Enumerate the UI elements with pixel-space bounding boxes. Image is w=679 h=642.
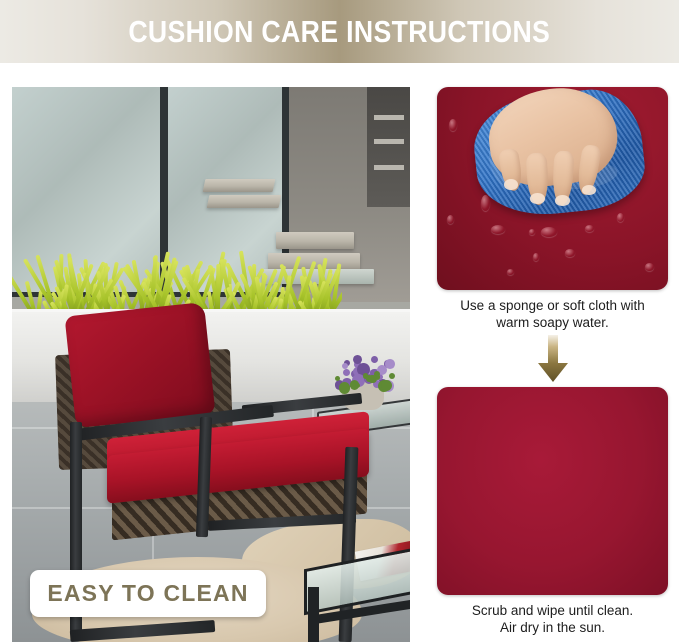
lavender-leaf <box>368 375 377 384</box>
fingernail-middle <box>530 193 545 204</box>
easy-to-clean-badge: EASY TO CLEAN <box>30 570 266 617</box>
back-cushion-pillow <box>65 302 216 428</box>
floating-stair-1 <box>203 179 276 192</box>
lavender-leaf <box>355 383 360 388</box>
step-2-caption-line-1: Scrub and wipe until clean. <box>437 602 668 619</box>
lavender-plant <box>334 355 396 389</box>
step-1-caption-line-1: Use a sponge or soft cloth with <box>437 297 668 314</box>
lavender-leaf <box>335 376 340 381</box>
door-slat-1 <box>374 115 404 120</box>
fingernail-ring <box>555 195 570 206</box>
step-1-caption: Use a sponge or soft cloth with warm soa… <box>437 297 668 331</box>
lavender-bloom <box>343 369 351 377</box>
door-slat-3 <box>374 165 404 170</box>
step-2-image <box>437 387 668 595</box>
lavender-leaf <box>389 373 395 379</box>
header-banner: CUSHION CARE INSTRUCTIONS <box>0 0 679 63</box>
step-2-caption-line-2: Air dry in the sun. <box>437 619 668 636</box>
hero-photo <box>12 87 410 642</box>
water-droplet <box>491 225 505 234</box>
water-droplet <box>481 195 490 211</box>
lavender-bloom <box>371 356 378 363</box>
water-droplet <box>529 229 535 235</box>
dark-door-panel <box>367 87 410 207</box>
step-1-caption-line-2: warm soapy water. <box>437 314 668 331</box>
instruction-steps: Use a sponge or soft cloth with warm soa… <box>437 87 668 636</box>
water-droplet <box>585 225 594 232</box>
lavender-leaf <box>339 382 351 394</box>
door-slat-2 <box>374 139 404 144</box>
water-droplet <box>533 253 539 261</box>
step-2-caption: Scrub and wipe until clean. Air dry in t… <box>437 602 668 636</box>
coffee-table-leg-left <box>308 587 319 642</box>
fingernail-pinky <box>582 185 596 195</box>
down-arrow-icon <box>537 335 569 383</box>
lavender-bloom <box>353 355 362 364</box>
water-droplet <box>449 119 457 131</box>
water-droplet <box>645 263 654 271</box>
water-droplet <box>507 269 514 275</box>
water-droplet <box>565 249 575 257</box>
page-title: CUSHION CARE INSTRUCTIONS <box>129 14 551 50</box>
lavender-bloom <box>385 359 395 369</box>
water-droplet <box>617 213 624 222</box>
fingernail-index <box>504 179 518 190</box>
step-1-image <box>437 87 668 290</box>
easy-to-clean-label: EASY TO CLEAN <box>47 580 248 607</box>
water-droplet <box>541 227 557 237</box>
water-droplet <box>447 215 454 224</box>
floating-stair-2 <box>207 195 282 208</box>
step-arrow <box>437 335 668 383</box>
